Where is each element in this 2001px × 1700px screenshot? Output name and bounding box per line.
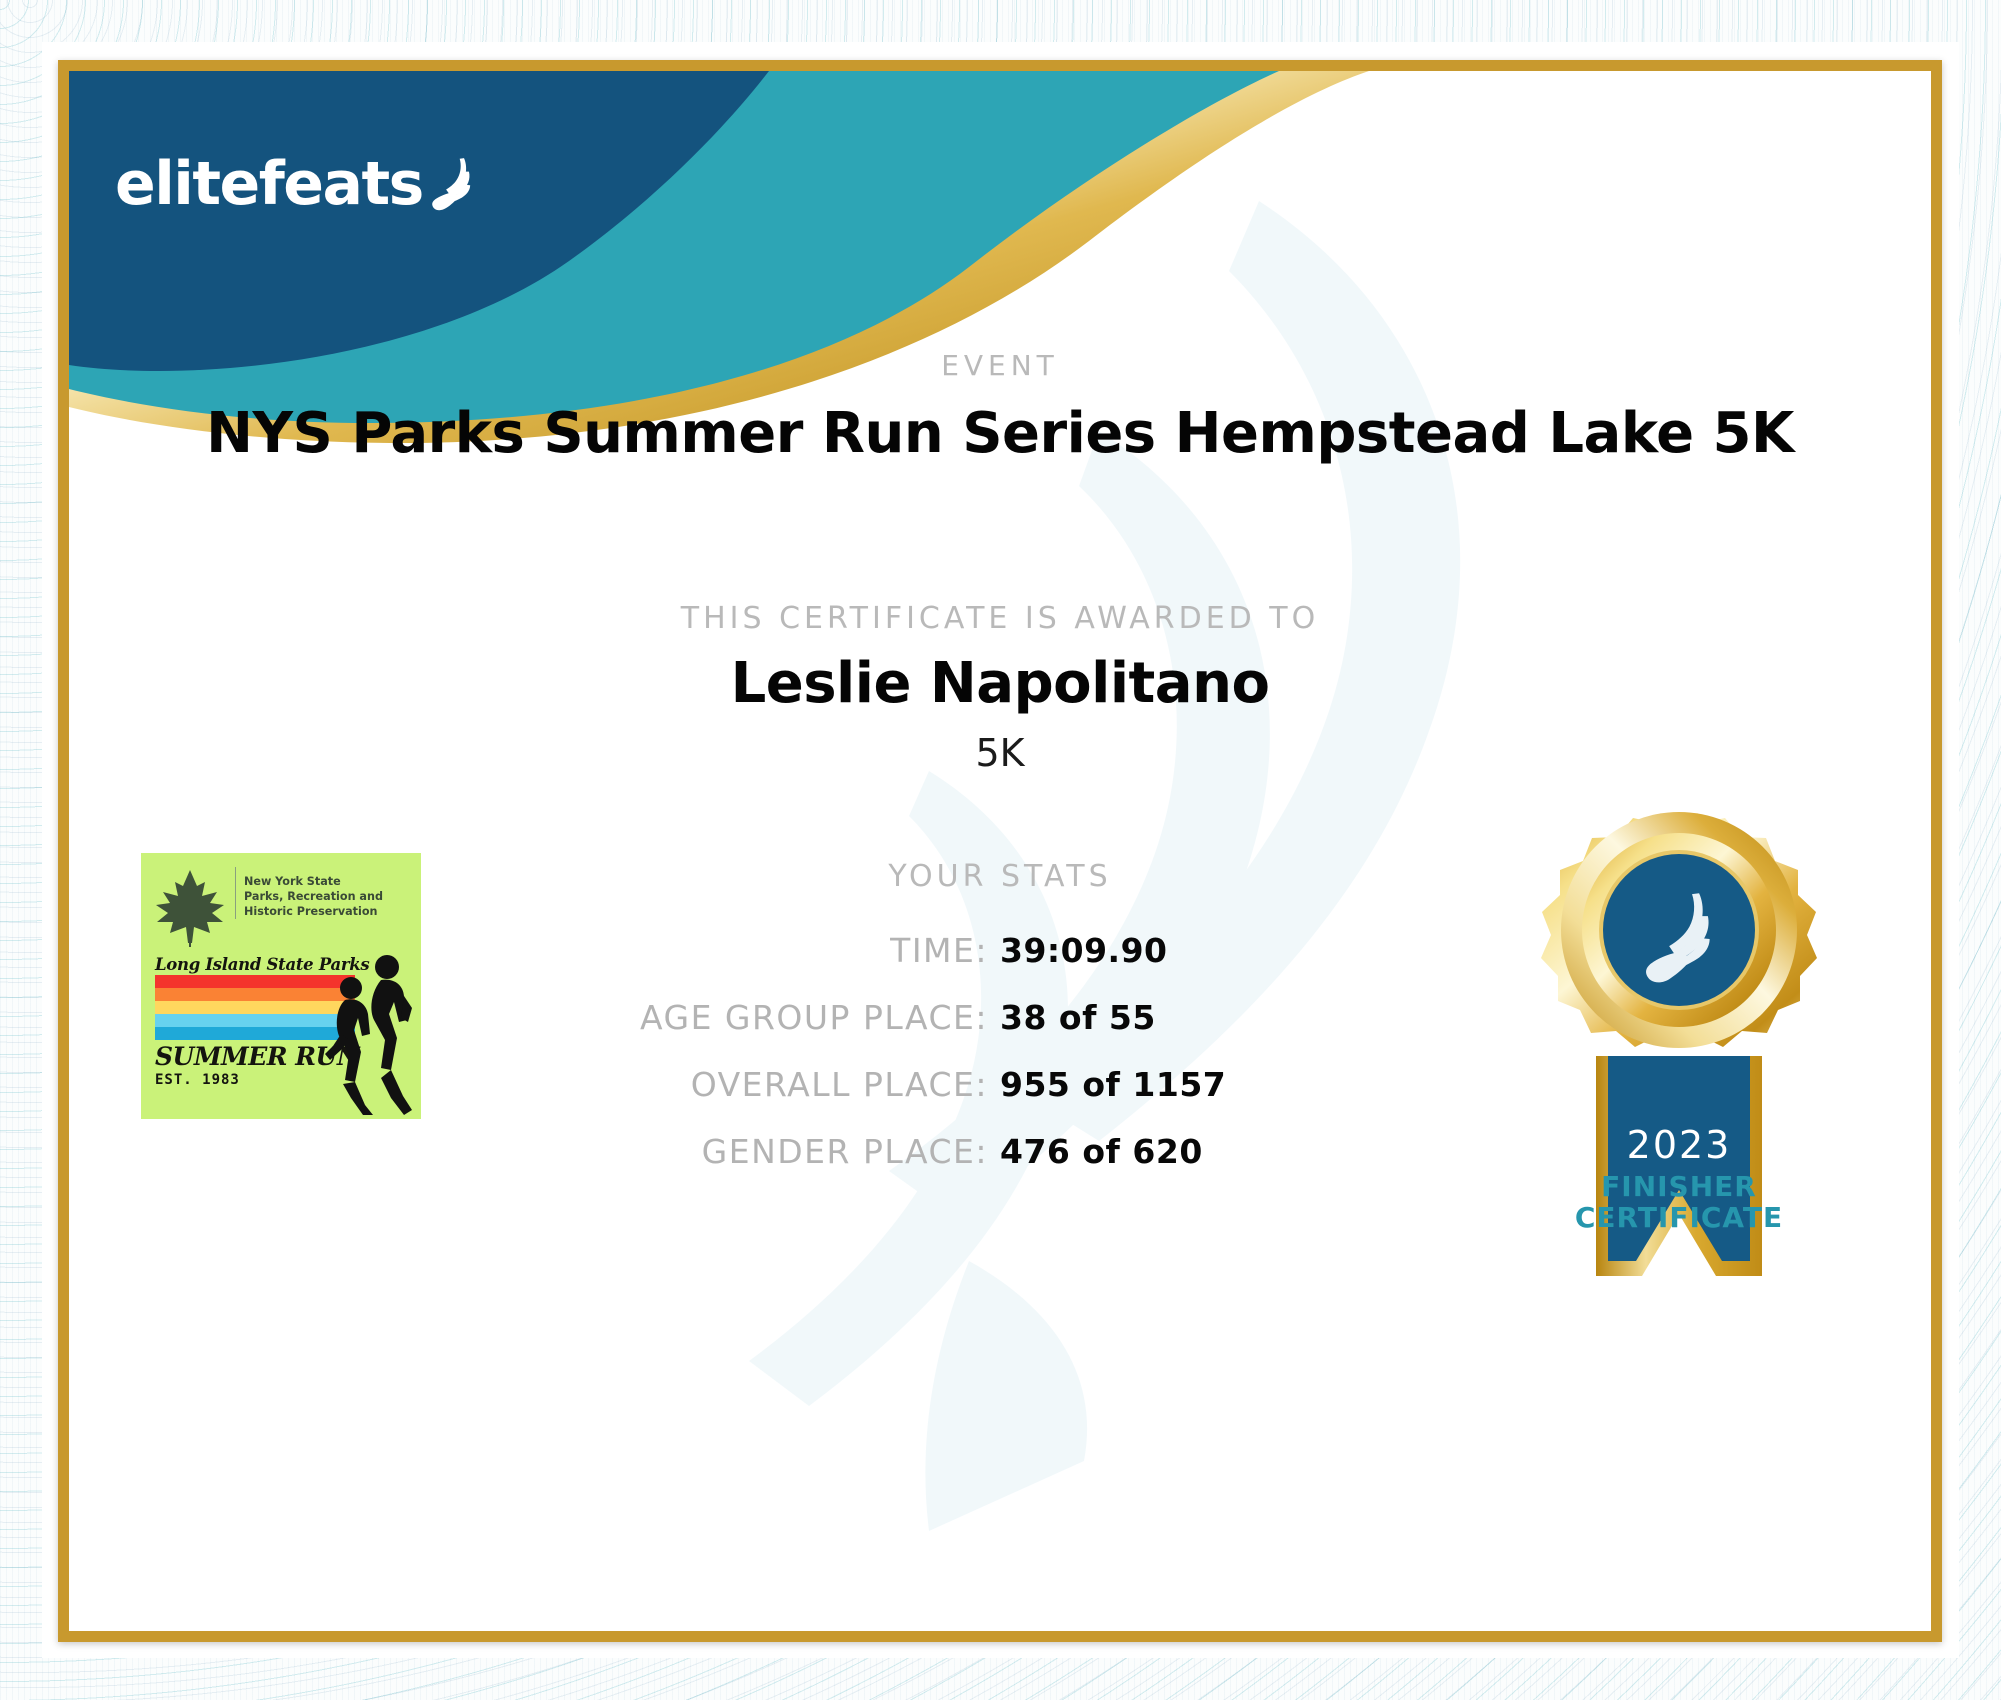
agency-line-1: New York State <box>244 875 383 890</box>
event-label: EVENT <box>69 349 1931 382</box>
nys-parks-summer-run-logo: New York State Parks, Recreation and His… <box>141 853 421 1119</box>
finisher-caption-line-2: CERTIFICATE <box>1499 1202 1859 1233</box>
recipient-name: Leslie Napolitano <box>69 651 1931 716</box>
maple-leaf-icon <box>153 867 227 949</box>
agency-line-2: Parks, Recreation and <box>244 890 383 905</box>
stat-label-age-group-place: AGE GROUP PLACE: <box>480 998 1000 1037</box>
runners-silhouette-icon <box>311 950 419 1115</box>
stat-value-overall-place: 955 of 1157 <box>1000 1065 1520 1104</box>
agency-line-3: Historic Preservation <box>244 905 383 920</box>
stat-value-time: 39:09.90 <box>1000 931 1520 970</box>
nys-parks-agency-text: New York State Parks, Recreation and His… <box>235 867 383 919</box>
finisher-certificate-caption: FINISHER CERTIFICATE <box>1499 1171 1859 1234</box>
gold-frame: elitefeats EVENT NYS Parks Summer Run Se… <box>58 60 1942 1642</box>
stat-label-overall-place: OVERALL PLACE: <box>480 1065 1000 1104</box>
certificate-content: EVENT NYS Parks Summer Run Series Hempst… <box>69 71 1931 1631</box>
event-title: NYS Parks Summer Run Series Hempstead La… <box>69 401 1931 466</box>
finisher-caption-line-1: FINISHER <box>1499 1171 1859 1202</box>
nys-parks-agency-lockup: New York State Parks, Recreation and His… <box>141 853 421 949</box>
certificate-page-background: elitefeats EVENT NYS Parks Summer Run Se… <box>0 0 2001 1700</box>
stat-label-gender-place: GENDER PLACE: <box>480 1132 1000 1171</box>
recipient-division: 5K <box>69 731 1931 775</box>
awarded-to-label: THIS CERTIFICATE IS AWARDED TO <box>69 601 1931 636</box>
stat-value-gender-place: 476 of 620 <box>1000 1132 1520 1171</box>
medal-year: 2023 <box>1627 1123 1732 1167</box>
stat-label-time: TIME: <box>480 931 1000 970</box>
stat-value-age-group-place: 38 of 55 <box>1000 998 1520 1037</box>
